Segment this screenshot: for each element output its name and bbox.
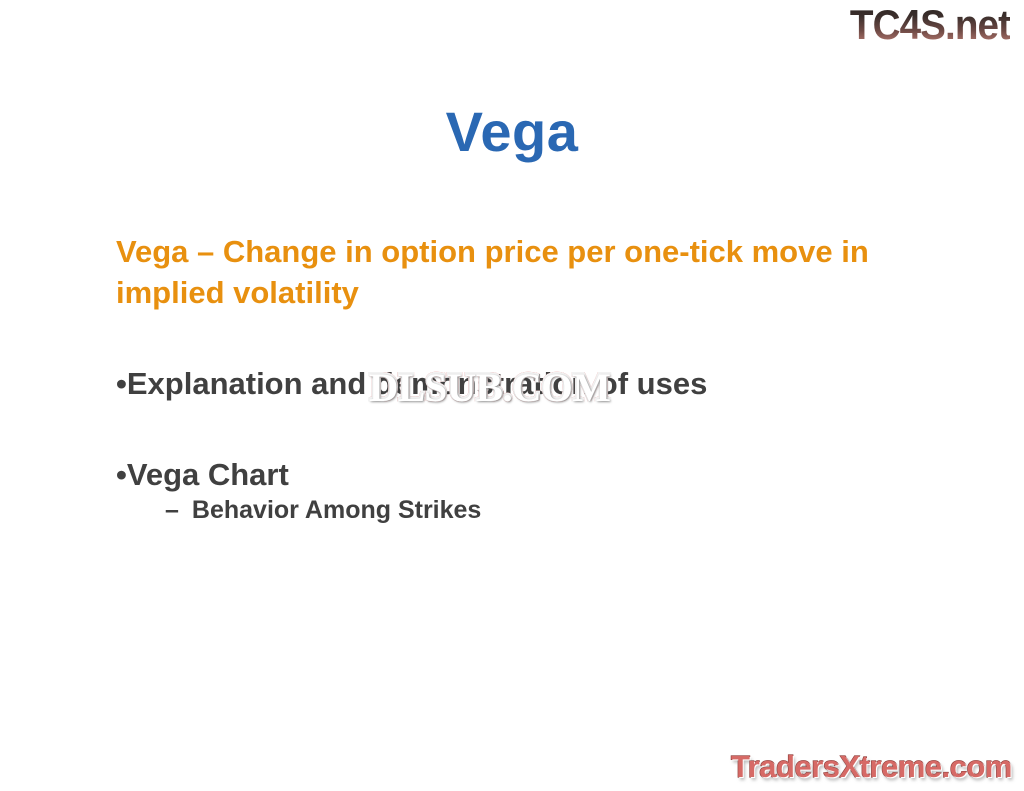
spacer-1 xyxy=(116,313,946,365)
bullet-marker-icon: • xyxy=(116,366,127,401)
watermark-text: DLSUB.COM xyxy=(369,364,610,409)
list-item-label: Vega Chart xyxy=(127,457,289,492)
footer-brand-logo: TradersXtreme.com xyxy=(731,749,1012,785)
spacer-2 xyxy=(116,403,946,456)
sub-list-item: –Behavior Among Strikes xyxy=(165,494,946,526)
lead-definition-text: Vega – Change in option price per one-ti… xyxy=(116,231,906,313)
header-brand-logo: TC4S.net xyxy=(850,2,1010,48)
watermark-overlay: DLSUB.COM xyxy=(369,366,610,408)
bullet-marker-icon: • xyxy=(116,457,127,492)
list-item: •Vega Chart xyxy=(116,456,946,494)
dash-marker-icon: – xyxy=(165,494,179,526)
sub-list-item-label: Behavior Among Strikes xyxy=(192,496,481,524)
page-title: Vega xyxy=(0,101,1024,163)
slide-canvas: TC4S.net Vega Vega – Change in option pr… xyxy=(0,0,1024,791)
